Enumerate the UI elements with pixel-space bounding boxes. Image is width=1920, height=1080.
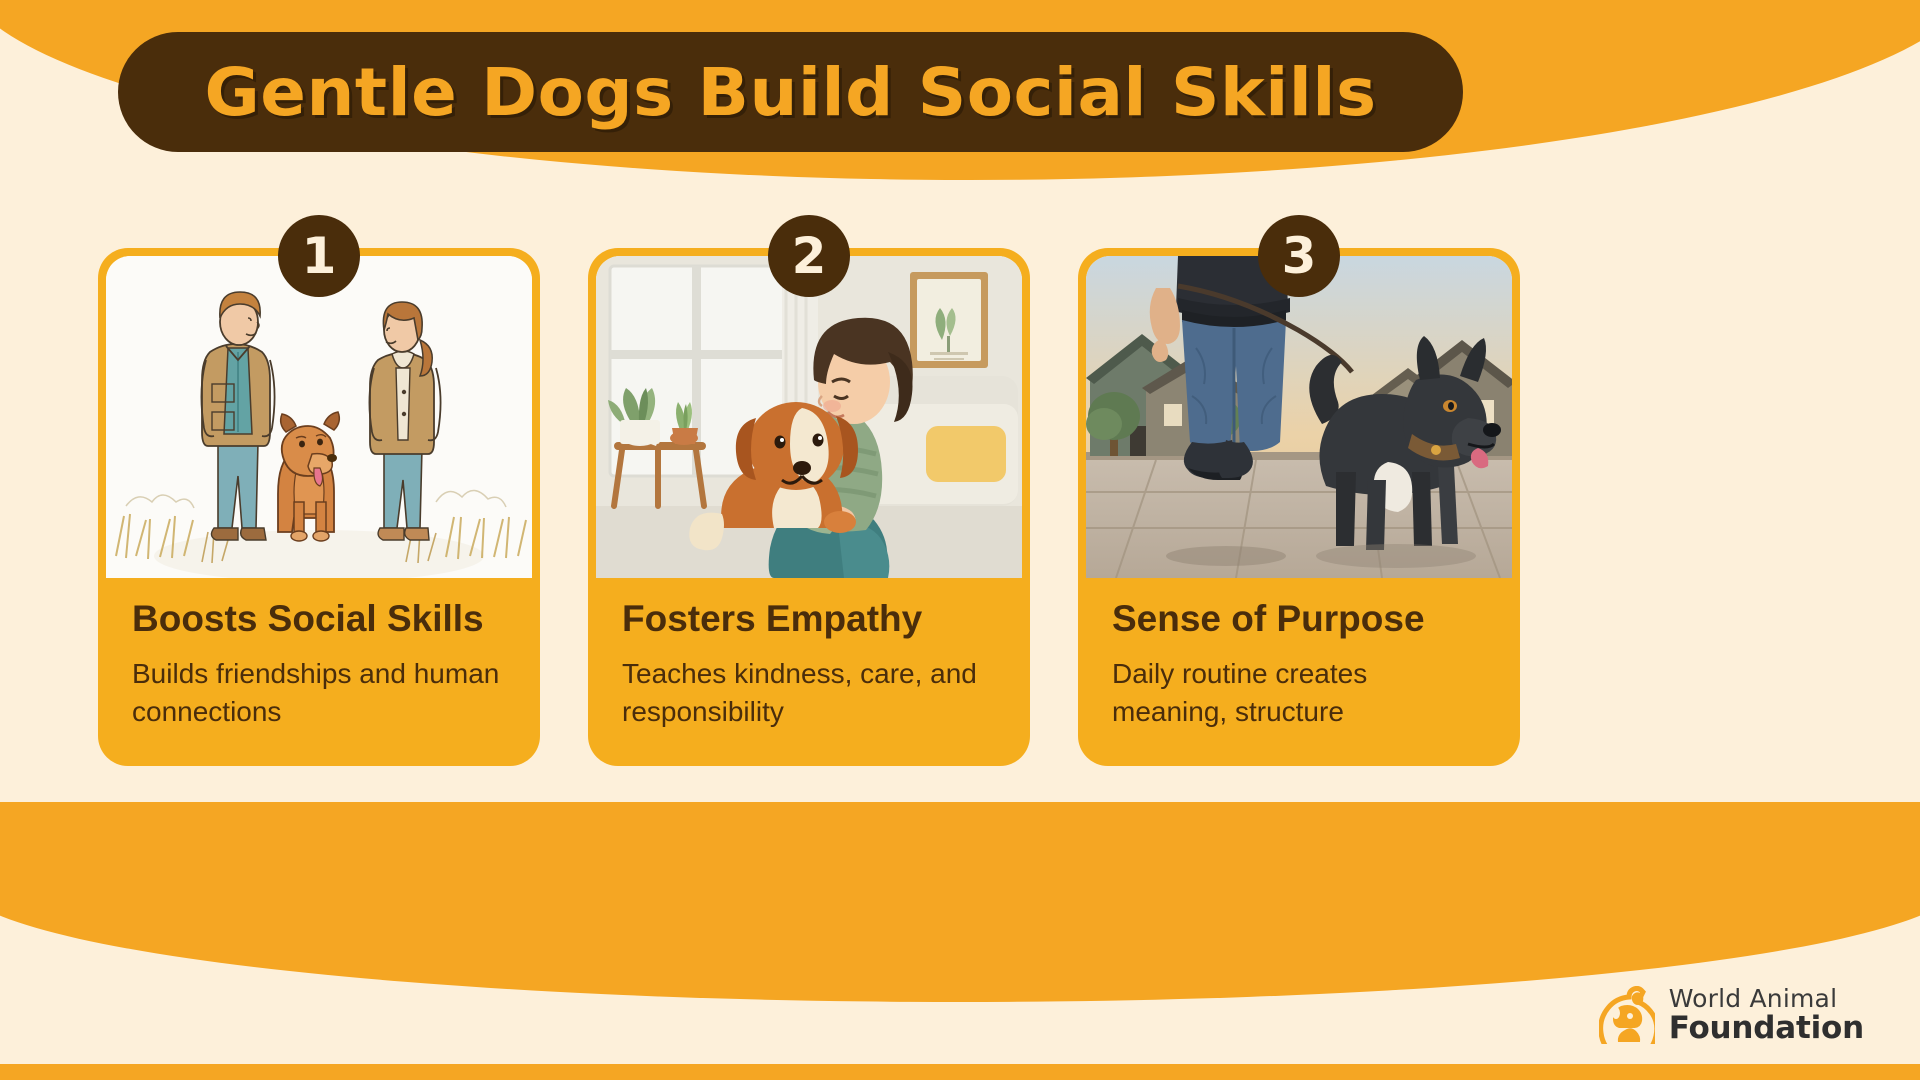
two-people-talking-with-dog-outdoors-icon (106, 256, 532, 578)
person-walking-dog-on-street-icon (1086, 256, 1512, 578)
card-title-3: Sense of Purpose (1112, 600, 1486, 639)
brand-name-line2: Foundation (1669, 1013, 1864, 1044)
footer-bottom-bar (0, 1064, 1920, 1080)
card-number-badge-3: 3 (1258, 215, 1340, 297)
header-title-pill: Gentle Dogs Build Social Skills (118, 32, 1463, 152)
woman-hugging-dog-indoors-icon (596, 256, 1022, 578)
card-3[interactable]: 3 (1078, 248, 1520, 766)
card-title-1: Boosts Social Skills (132, 600, 506, 639)
infographic-root: Gentle Dogs Build Social Skills 1 (0, 0, 1920, 1080)
cards-row: 1 (98, 248, 1824, 766)
card-title-2: Fosters Empathy (622, 600, 996, 639)
card-2[interactable]: 2 (588, 248, 1030, 766)
card-illustration-2 (596, 256, 1022, 578)
card-number-badge-1: 1 (278, 215, 360, 297)
card-text-3: Sense of Purpose Daily routine creates m… (1086, 578, 1512, 766)
brand-logo[interactable]: World Animal Foundation (1599, 986, 1864, 1044)
footer-banner-shape (0, 802, 1920, 1002)
card-text-2: Fosters Empathy Teaches kindness, care, … (596, 578, 1022, 766)
card-number-badge-2: 2 (768, 215, 850, 297)
world-animal-foundation-logo-icon (1599, 986, 1655, 1044)
card-description-1: Builds friendships and human connections (132, 655, 506, 732)
page-title: Gentle Dogs Build Social Skills (204, 54, 1376, 131)
brand-name-line1: World Animal (1669, 986, 1864, 1011)
card-illustration-1 (106, 256, 532, 578)
card-description-2: Teaches kindness, care, and responsibili… (622, 655, 996, 732)
card-illustration-3 (1086, 256, 1512, 578)
card-description-3: Daily routine creates meaning, structure (1112, 655, 1486, 732)
card-text-1: Boosts Social Skills Builds friendships … (106, 578, 532, 766)
card-1[interactable]: 1 (98, 248, 540, 766)
brand-logo-text: World Animal Foundation (1669, 986, 1864, 1044)
